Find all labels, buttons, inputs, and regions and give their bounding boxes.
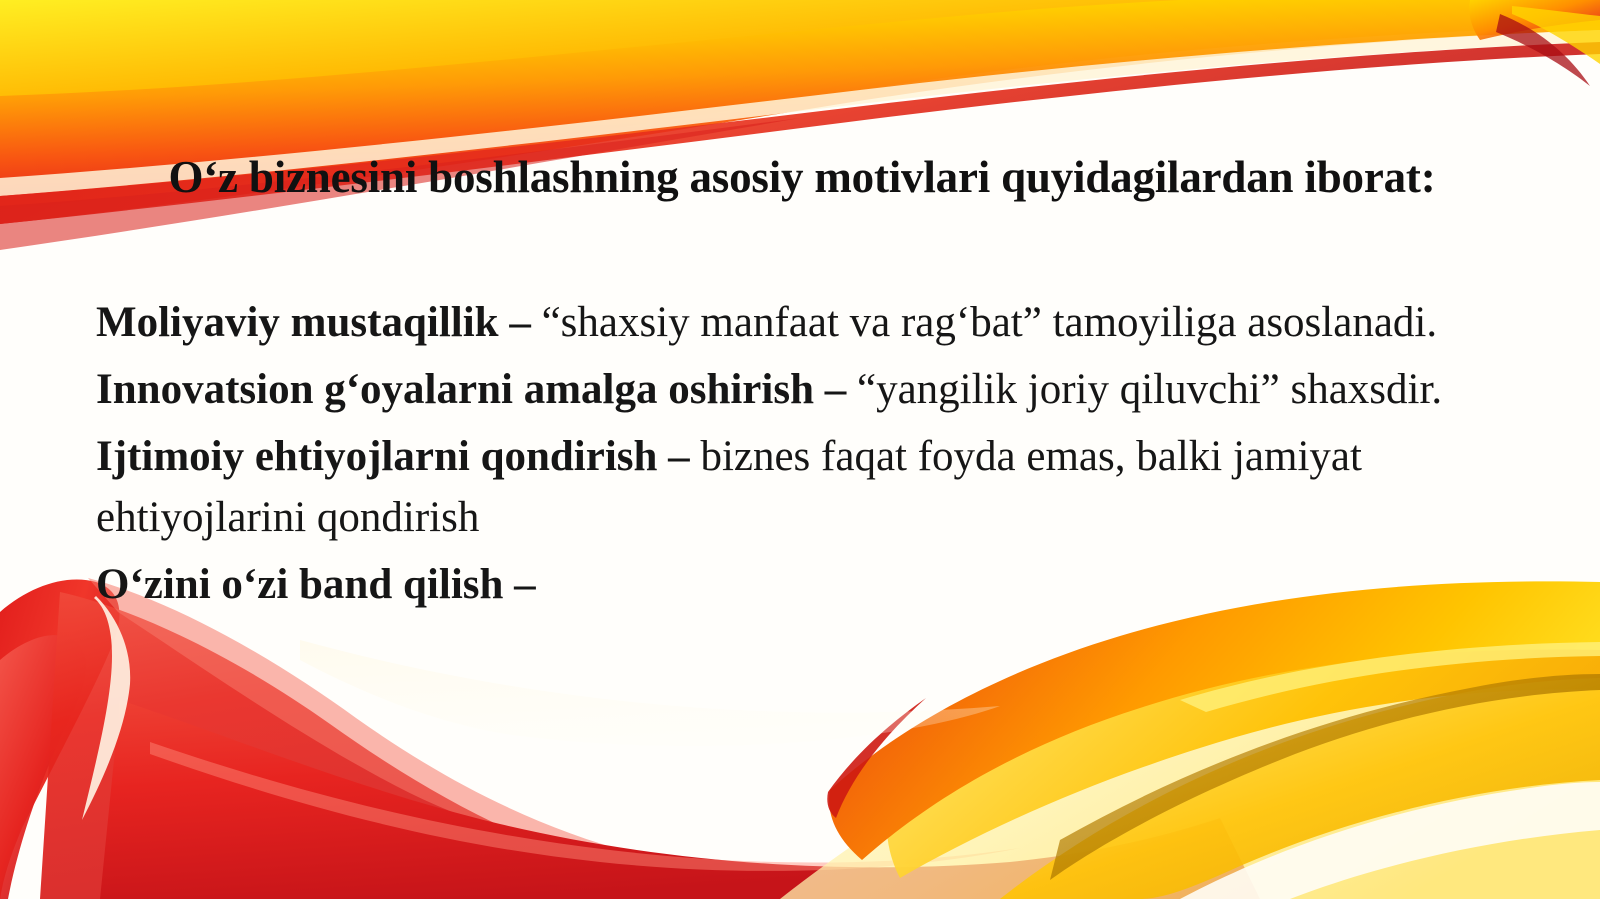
bullet-lead: Moliyaviy mustaqillik – bbox=[96, 299, 542, 346]
bullet-paragraph: O‘zini o‘zi band qilish – bbox=[96, 554, 1506, 615]
bullet-rest: “shaxsiy manfaat va rag‘bat” tamoyiliga … bbox=[542, 299, 1438, 346]
bullet-paragraph: Moliyaviy mustaqillik – “shaxsiy manfaat… bbox=[96, 292, 1506, 353]
presentation-slide: O‘z biznesini boshlashning asosiy motivl… bbox=[0, 0, 1600, 899]
bullet-paragraph: Ijtimoiy ehtiyojlarni qondirish – biznes… bbox=[96, 426, 1506, 548]
page-title: O‘z biznesini boshlashning asosiy motivl… bbox=[92, 148, 1512, 207]
bullet-lead: O‘zini o‘zi band qilish – bbox=[96, 561, 536, 608]
bullet-rest: “yangilik joriy qiluvchi” shaxsdir. bbox=[857, 366, 1442, 413]
body-text-block: Moliyaviy mustaqillik – “shaxsiy manfaat… bbox=[96, 292, 1506, 615]
bullet-lead: Ijtimoiy ehtiyojlarni qondirish – bbox=[96, 433, 700, 480]
bullet-lead: Innovatsion g‘oyalarni amalga oshirish – bbox=[96, 366, 857, 413]
bullet-paragraph: Innovatsion g‘oyalarni amalga oshirish –… bbox=[96, 359, 1506, 420]
slide-content: O‘z biznesini boshlashning asosiy motivl… bbox=[0, 0, 1600, 899]
